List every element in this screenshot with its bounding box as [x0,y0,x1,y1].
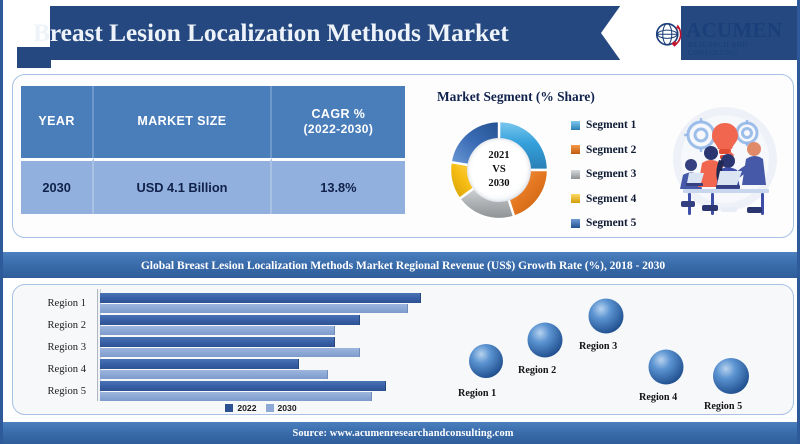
legend-swatch-icon [266,404,274,412]
bar-label: Region 4 [21,358,93,380]
cell-year: 2030 [21,158,94,214]
donut-center-label: 2021 VS 2030 [467,138,531,202]
bar-label: Region 3 [21,336,93,358]
legend-label: Segment 5 [586,217,636,229]
legend-item-segment-5[interactable]: Segment 5 [571,211,667,236]
legend-label: Segment 4 [586,193,636,205]
header: Breast Lesion Localization Methods Marke… [3,6,800,68]
bar-2030[interactable] [100,392,372,402]
legend-label: 2030 [278,403,297,413]
bar-2030[interactable] [100,348,360,358]
legend-swatch-icon [571,170,580,179]
footer: Source: www.acumenresearchandconsulting.… [3,422,800,444]
column-header-year: YEAR [21,86,94,158]
bar-chart-legend: 2022 2030 [171,401,351,414]
regional-bar-chart: Region 1 Region 2 Region 3 Region 4 Regi [21,288,441,414]
bottom-chart-card: Region 1 Region 2 Region 3 Region 4 Regi [12,284,794,415]
legend-swatch-icon [571,145,580,154]
bubble-svg [445,285,791,414]
globe-icon [653,20,683,50]
bar-2030[interactable] [100,304,408,314]
logo-name: ACUMEN [686,18,782,43]
bar-2022[interactable] [100,337,335,347]
bar-2030[interactable] [100,370,328,380]
regional-bubble-chart: Region 1 Region 2 Region 3 Region 4 Regi… [445,285,791,414]
bar-group-region-2: Region 2 [21,314,441,336]
legend-label: 2022 [237,403,256,413]
bar-2022[interactable] [100,315,360,325]
bubble-label-region-5: Region 5 [704,401,742,412]
bubble-label-region-2: Region 2 [518,365,556,376]
bubble-region-3[interactable] [589,299,624,334]
cell-cagr: 13.8% [272,158,405,214]
top-summary-card: YEAR MARKET SIZE CAGR % (2022-2030) 2030… [12,74,794,238]
bar-2022[interactable] [100,293,421,303]
cell-market-size: USD 4.1 Billion [94,158,272,214]
donut-chart: 2021 VS 2030 [438,109,560,231]
bubble-region-5[interactable] [713,358,749,394]
legend-item-segment-2[interactable]: Segment 2 [571,138,667,163]
segment-legend: Segment 1 Segment 2 Segment 3 Segment 4 … [571,113,667,236]
bubble-region-4[interactable] [649,350,684,385]
legend-swatch-icon [571,121,580,130]
table-row: 2030 USD 4.1 Billion 13.8% [21,158,405,214]
brand-logo[interactable]: ACUMEN RESEARCH AND CONSULTING [653,16,798,60]
legend-item-segment-3[interactable]: Segment 3 [571,162,667,187]
donut-center-line-2: VS [492,163,506,177]
bar-label: Region 1 [21,292,93,314]
cagr-label: CAGR % [311,107,365,121]
legend-item-segment-4[interactable]: Segment 4 [571,187,667,212]
cagr-period: (2022-2030) [272,122,405,137]
kpi-table: YEAR MARKET SIZE CAGR % (2022-2030) 2030… [21,86,405,214]
legend-label: Segment 3 [586,168,636,180]
legend-swatch-icon [571,219,580,228]
segment-chart-title: Market Segment (% Share) [437,89,595,105]
bubble-region-1[interactable] [469,344,503,378]
bar-2022[interactable] [100,359,299,369]
bubble-region-2[interactable] [528,323,563,358]
bar-group-region-5: Region 5 [21,380,441,402]
team-collaboration-illustration [661,97,789,225]
table-header-row: YEAR MARKET SIZE CAGR % (2022-2030) [21,86,405,158]
legend-swatch-icon [571,194,580,203]
logo-tagline: RESEARCH AND CONSULTING [688,41,798,57]
column-header-cagr: CAGR % (2022-2030) [272,86,405,158]
bar-2030[interactable] [100,326,335,336]
bar-label: Region 2 [21,314,93,336]
bar-group-region-3: Region 3 [21,336,441,358]
page-title: Breast Lesion Localization Methods Marke… [33,11,603,55]
legend-item-2022[interactable]: 2022 [225,403,256,413]
bar-2022[interactable] [100,381,386,391]
bubble-label-region-4: Region 4 [639,392,677,403]
legend-swatch-icon [225,404,233,412]
donut-center-line-1: 2021 [488,149,509,163]
bubble-label-region-3: Region 3 [579,341,617,352]
bar-label: Region 5 [21,380,93,402]
legend-label: Segment 1 [586,119,636,131]
legend-item-2030[interactable]: 2030 [266,403,297,413]
donut-center-line-3: 2030 [488,177,509,191]
section-banner-text: Global Breast Lesion Localization Method… [141,259,665,272]
infographic-page: Breast Lesion Localization Methods Marke… [0,0,800,444]
column-header-market-size: MARKET SIZE [94,86,272,158]
section-banner: Global Breast Lesion Localization Method… [3,252,800,278]
bar-group-region-4: Region 4 [21,358,441,380]
bar-group-region-1: Region 1 [21,292,441,314]
legend-label: Segment 2 [586,144,636,156]
legend-item-segment-1[interactable]: Segment 1 [571,113,667,138]
bubble-label-region-1: Region 1 [458,388,496,399]
source-text: Source: www.acumenresearchandconsulting.… [292,428,513,439]
